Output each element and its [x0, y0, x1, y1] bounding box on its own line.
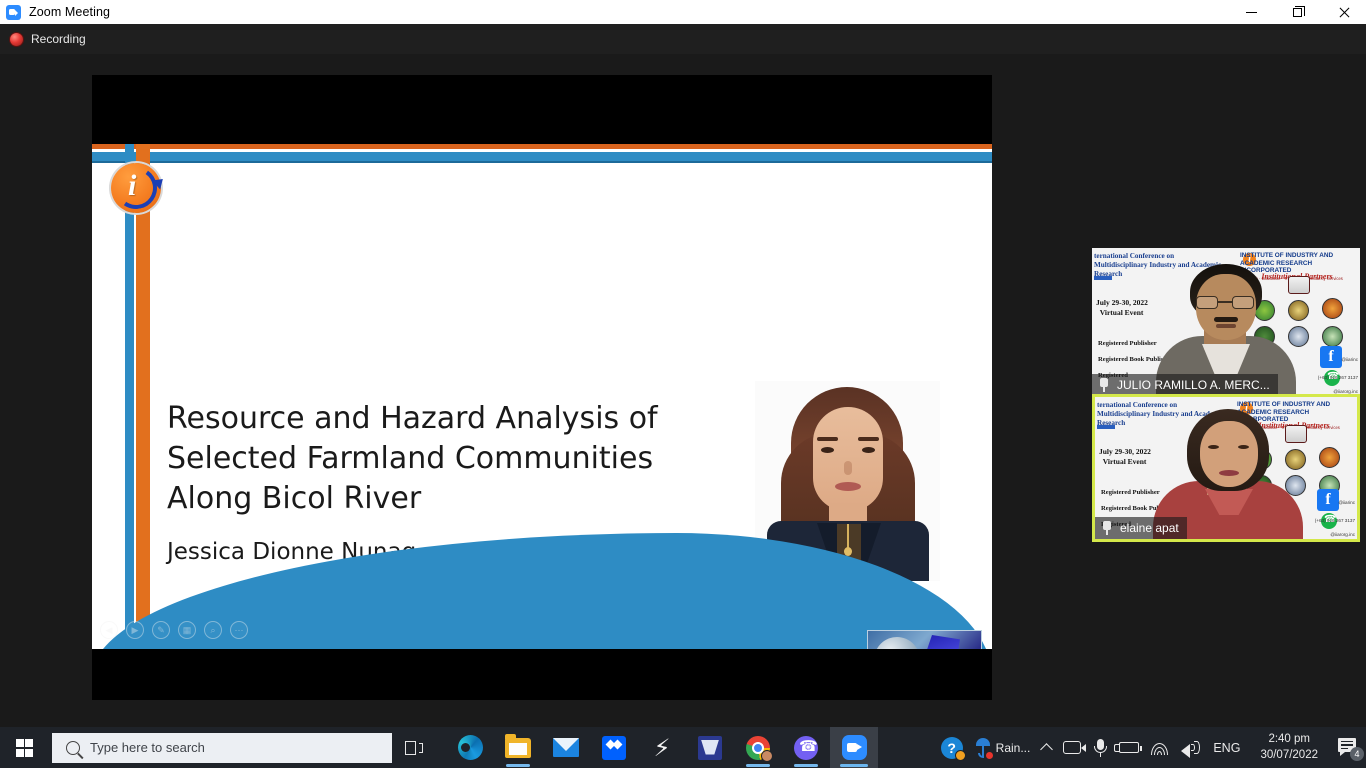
edge-icon [458, 735, 483, 760]
participant-video-tile[interactable]: ternational Conference on Multidisciplin… [1092, 248, 1360, 396]
slide-title: Resource and Hazard Analysis of Selected… [167, 399, 747, 519]
weather-label: Rain... [996, 741, 1031, 755]
taskbar-app-mail[interactable] [542, 727, 590, 768]
clock-time: 2:40 pm [1260, 732, 1318, 748]
system-tray: ? Rain... ENG 2:40 pm 30/07/2022 [935, 727, 1366, 768]
lightning-bolt-icon: ⚡ [654, 736, 671, 760]
tray-weather-widget[interactable]: Rain... [969, 727, 1037, 768]
maximize-button[interactable] [1274, 0, 1320, 24]
tray-language-indicator[interactable]: ENG [1207, 727, 1246, 768]
recording-indicator-bar: Recording [0, 24, 1366, 54]
icmiar-logo: ICMIAR [867, 630, 982, 649]
help-question-icon: ? [941, 737, 963, 759]
mail-icon [553, 738, 579, 757]
chrome-profile-avatar [761, 750, 773, 762]
pen-tool-button[interactable]: ✎ [152, 621, 170, 639]
language-label: ENG [1213, 741, 1240, 755]
powerpoint-presenter-toolbar[interactable]: ◀ ▶ ✎ ▦ ⌕ ⋯ [100, 621, 248, 639]
taskbar-app-file-explorer[interactable] [494, 727, 542, 768]
prev-slide-button[interactable]: ◀ [100, 621, 118, 639]
camera-icon [1063, 741, 1081, 754]
participant-name: JULIO RAMILLO A. MERC... [1117, 378, 1270, 392]
window-controls [1228, 0, 1366, 24]
zoom-in-button[interactable]: ⌕ [204, 621, 222, 639]
taskbar-app-google-chrome[interactable] [734, 727, 782, 768]
participant-name-badge: elaine apat [1095, 517, 1187, 539]
battery-icon [1119, 742, 1139, 753]
windows-taskbar: Type here to search ⚡ ? Rain... [0, 727, 1366, 768]
close-button[interactable] [1320, 0, 1366, 24]
volume-icon [1181, 740, 1201, 755]
participant-name: elaine apat [1120, 521, 1179, 535]
tray-camera-icon[interactable] [1057, 727, 1087, 768]
scanner-icon [698, 736, 722, 760]
search-input[interactable]: Type here to search [52, 733, 392, 763]
chrome-icon [746, 736, 770, 760]
slide-top-blue-dark-stripe [92, 161, 992, 163]
tray-notification-center[interactable]: 4 [1332, 727, 1366, 768]
participant-name-badge: JULIO RAMILLO A. MERC... [1092, 374, 1278, 396]
tray-battery-icon[interactable] [1113, 727, 1145, 768]
window-title-bar: Zoom Meeting [0, 0, 1366, 24]
task-view-icon[interactable] [392, 727, 436, 768]
logo-letter: i [128, 171, 136, 201]
next-slide-button[interactable]: ▶ [126, 621, 144, 639]
window-title: Zoom Meeting [29, 5, 110, 19]
search-placeholder: Type here to search [90, 740, 205, 755]
tray-show-hidden-icons[interactable] [1036, 727, 1057, 768]
tray-clock[interactable]: 2:40 pm 30/07/2022 [1246, 727, 1332, 768]
zoom-meeting-window: Recording i Resource and Hazard Analysis… [0, 24, 1366, 727]
umbrella-icon [975, 737, 991, 759]
slide-left-blue-bar [125, 144, 134, 649]
chevron-up-icon [1040, 743, 1053, 756]
zoom-logo-icon [6, 5, 21, 20]
slide-top-blue-stripe [92, 152, 992, 161]
more-options-button[interactable]: ⋯ [230, 621, 248, 639]
shared-screen-area[interactable]: i Resource and Hazard Analysis of Select… [92, 75, 992, 700]
pin-icon [1096, 377, 1112, 393]
record-dot-icon [10, 33, 23, 46]
wifi-icon [1151, 741, 1169, 755]
recording-label: Recording [31, 32, 86, 46]
presentation-slide[interactable]: i Resource and Hazard Analysis of Select… [92, 144, 992, 649]
tray-microphone-icon[interactable] [1087, 727, 1113, 768]
notification-count-badge: 4 [1350, 747, 1364, 761]
taskbar-app-zoom[interactable] [830, 727, 878, 768]
slide-left-orange-bar [136, 144, 150, 649]
zoom-icon [842, 735, 867, 760]
taskbar-app-scanner[interactable] [686, 727, 734, 768]
taskbar-pinned-apps: ⚡ [446, 727, 878, 768]
search-icon [66, 741, 80, 755]
clock-date: 30/07/2022 [1260, 748, 1318, 764]
participant-video-tile[interactable]: ternational Conference on Multidisciplin… [1092, 394, 1360, 542]
tray-help-icon[interactable]: ? [935, 727, 969, 768]
taskbar-app-viber[interactable] [782, 727, 830, 768]
tray-volume-icon[interactable] [1175, 727, 1207, 768]
notification-icon: 4 [1338, 738, 1360, 758]
microphone-icon [1093, 739, 1107, 757]
iiar-logo-icon: i [111, 163, 161, 213]
taskbar-app-dropbox[interactable] [590, 727, 638, 768]
windows-start-icon[interactable] [0, 727, 48, 768]
minimize-button[interactable] [1228, 0, 1274, 24]
pin-icon [1099, 520, 1115, 536]
viber-icon [794, 736, 818, 760]
folder-icon [505, 738, 531, 758]
tray-wifi-icon[interactable] [1145, 727, 1175, 768]
taskbar-app-lightning[interactable]: ⚡ [638, 727, 686, 768]
taskbar-app-microsoft-edge[interactable] [446, 727, 494, 768]
all-slides-button[interactable]: ▦ [178, 621, 196, 639]
dropbox-icon [602, 736, 626, 760]
